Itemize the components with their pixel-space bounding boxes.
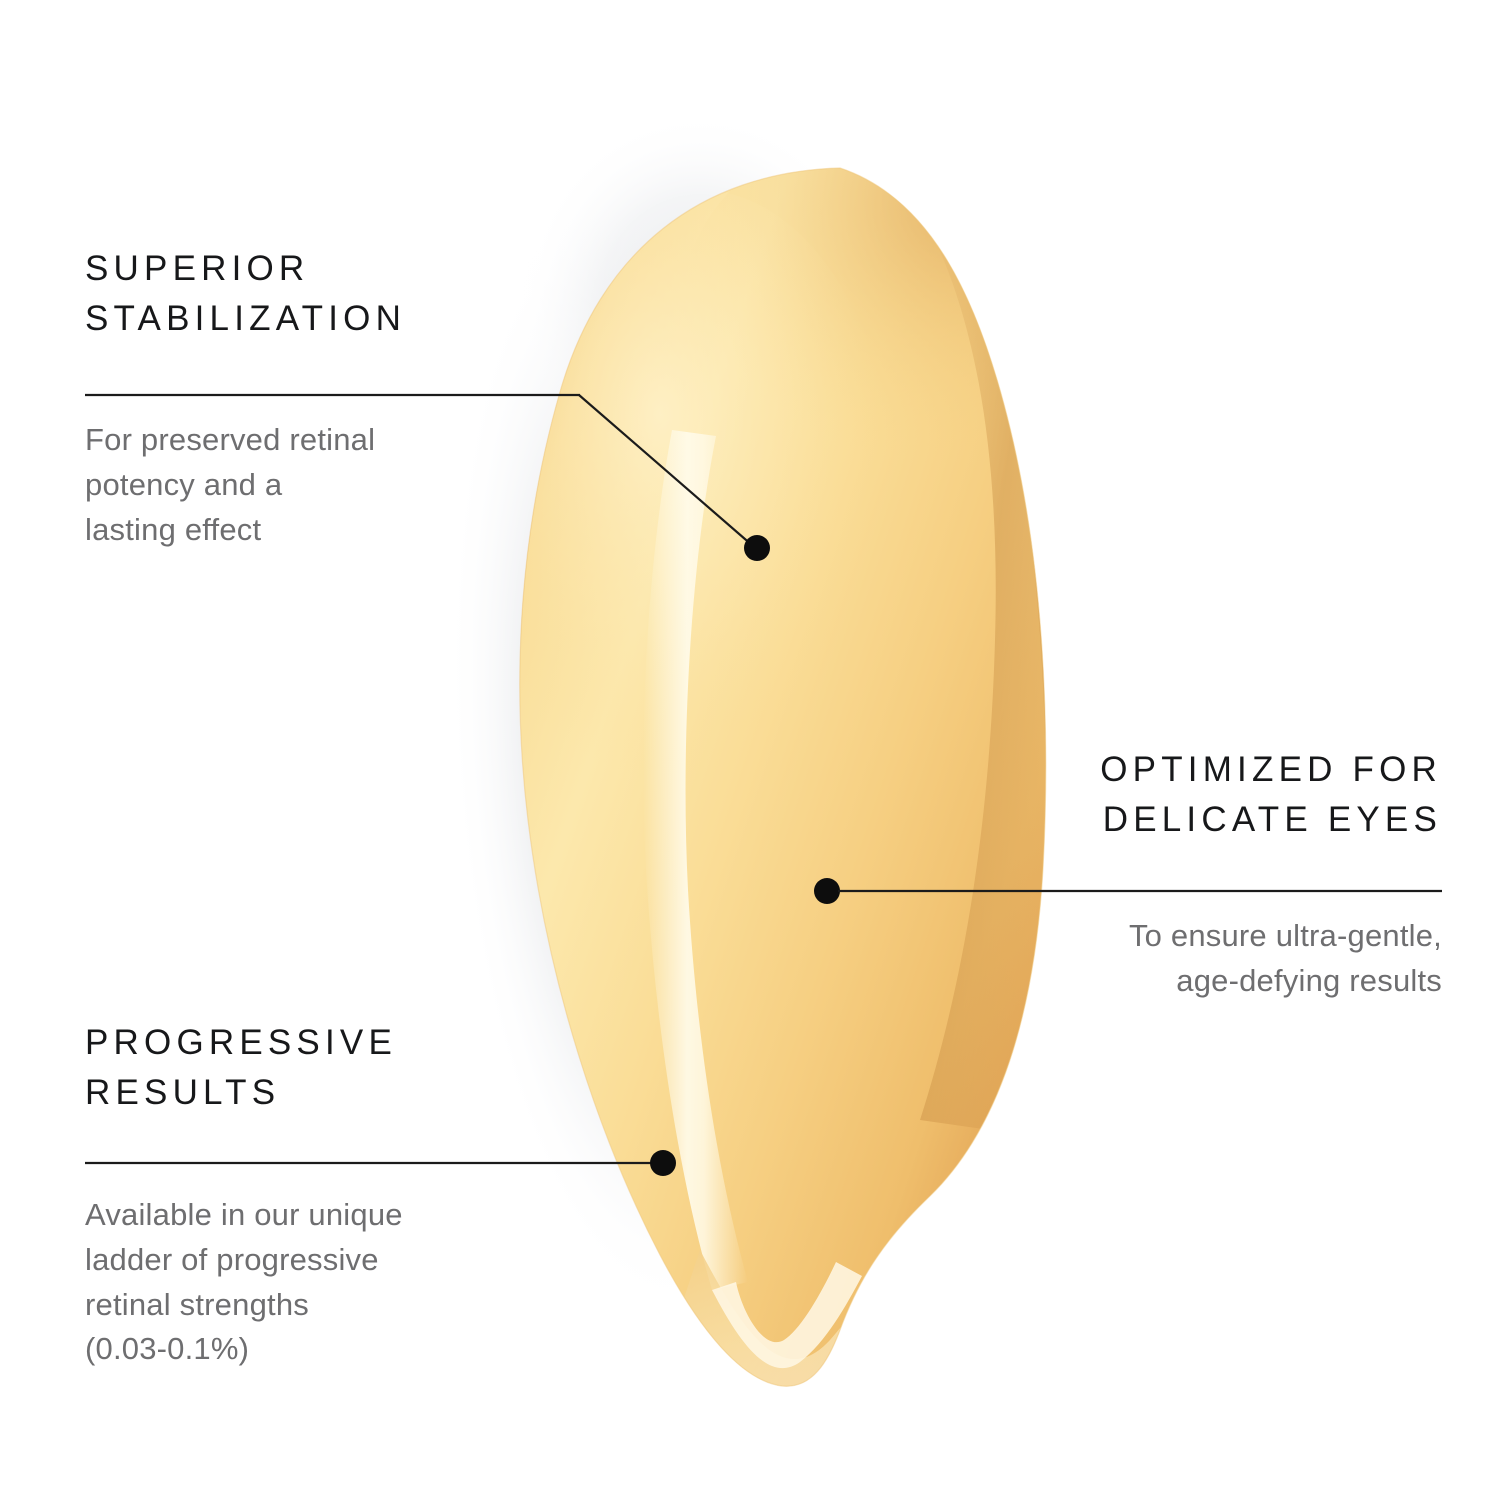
headline-progressive-results: PROGRESSIVE RESULTS — [85, 1018, 645, 1117]
body-progressive-results: Available in our unique ladder of progre… — [85, 1193, 645, 1372]
dot-superior-stabilization — [744, 535, 770, 561]
headline-optimized-delicate-eyes: OPTIMIZED FOR DELICATE EYES — [882, 745, 1442, 844]
body-superior-stabilization: For preserved retinal potency and a last… — [85, 418, 625, 552]
headline-superior-stabilization: SUPERIOR STABILIZATION — [85, 244, 625, 343]
dot-progressive-results — [650, 1150, 676, 1176]
infographic-canvas: SUPERIOR STABILIZATION For preserved ret… — [0, 0, 1500, 1500]
callout-progressive-results: PROGRESSIVE RESULTS Available in our uni… — [85, 1018, 645, 1372]
callout-optimized-delicate-eyes: OPTIMIZED FOR DELICATE EYES To ensure ul… — [882, 745, 1442, 1004]
body-optimized-delicate-eyes: To ensure ultra-gentle, age-defying resu… — [882, 914, 1442, 1003]
callout-superior-stabilization: SUPERIOR STABILIZATION For preserved ret… — [85, 244, 625, 552]
dot-optimized-delicate-eyes — [814, 878, 840, 904]
